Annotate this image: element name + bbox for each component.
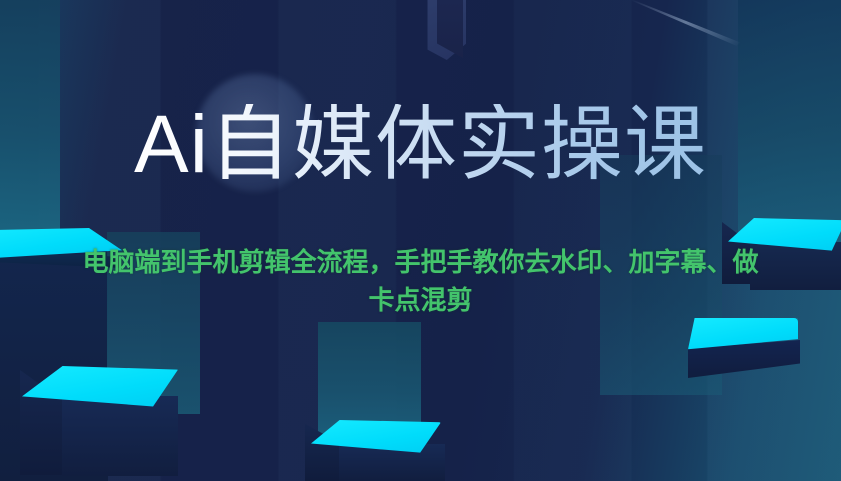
course-banner: Ai自媒体实操课 电脑端到手机剪辑全流程，手把手教你去水印、加字幕、做卡点混剪 [0,0,841,481]
banner-content: Ai自媒体实操课 电脑端到手机剪辑全流程，手把手教你去水印、加字幕、做卡点混剪 [0,0,841,481]
banner-title: Ai自媒体实操课 [134,104,707,186]
banner-subtitle: 电脑端到手机剪辑全流程，手把手教你去水印、加字幕、做卡点混剪 [71,243,771,320]
